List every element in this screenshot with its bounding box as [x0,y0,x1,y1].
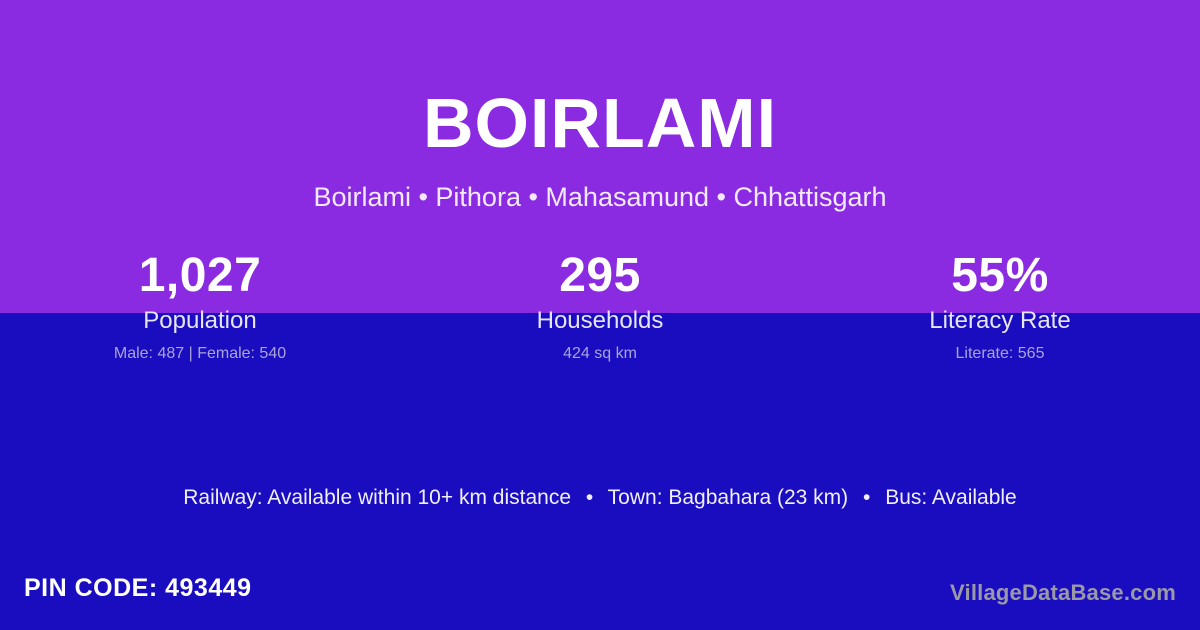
amenities-line: Railway: Available within 10+ km distanc… [0,484,1200,511]
breadcrumb: Boirlami • Pithora • Mahasamund • Chhatt… [0,181,1200,213]
amenity-railway: Railway: Available within 10+ km distanc… [183,486,571,509]
stat-label: Population [0,307,400,336]
stat-sublabel: 424 sq km [400,344,800,363]
amenity-bus: Bus: Available [885,486,1017,509]
stat-value: 55% [800,248,1200,303]
stat-literacy-rate: 55% Literacy Rate Literate: 565 [800,248,1200,363]
village-info-card: BOIRLAMI Boirlami • Pithora • Mahasamund… [0,0,1200,630]
stat-value: 295 [400,248,800,303]
stats-row: 1,027 Population Male: 487 | Female: 540… [0,248,1200,363]
stat-sublabel: Male: 487 | Female: 540 [0,344,400,363]
stat-sublabel: Literate: 565 [800,344,1200,363]
stat-label: Households [400,307,800,336]
amenity-separator: • [854,486,879,509]
stat-population: 1,027 Population Male: 487 | Female: 540 [0,248,400,363]
pin-code: PIN CODE: 493449 [24,574,252,603]
stat-households: 295 Households 424 sq km [400,248,800,363]
stat-label: Literacy Rate [800,307,1200,336]
stat-value: 1,027 [0,248,400,303]
amenity-separator: • [577,486,602,509]
page-title: BOIRLAMI [0,88,1200,158]
site-brand: VillageDataBase.com [950,580,1176,606]
amenity-town: Town: Bagbahara (23 km) [608,486,848,509]
